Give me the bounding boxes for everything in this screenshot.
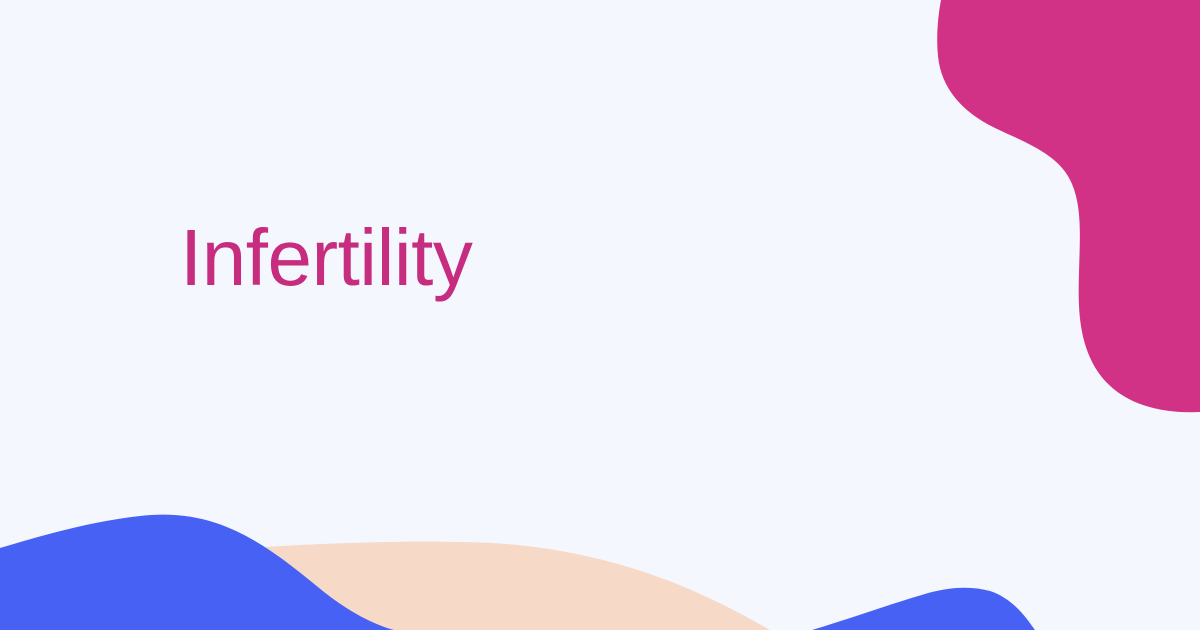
hero-banner: Infertility [0, 0, 1200, 630]
decorative-background [0, 0, 1200, 630]
page-title: Infertility [180, 216, 880, 300]
hero-title-block: Infertility [180, 216, 880, 300]
